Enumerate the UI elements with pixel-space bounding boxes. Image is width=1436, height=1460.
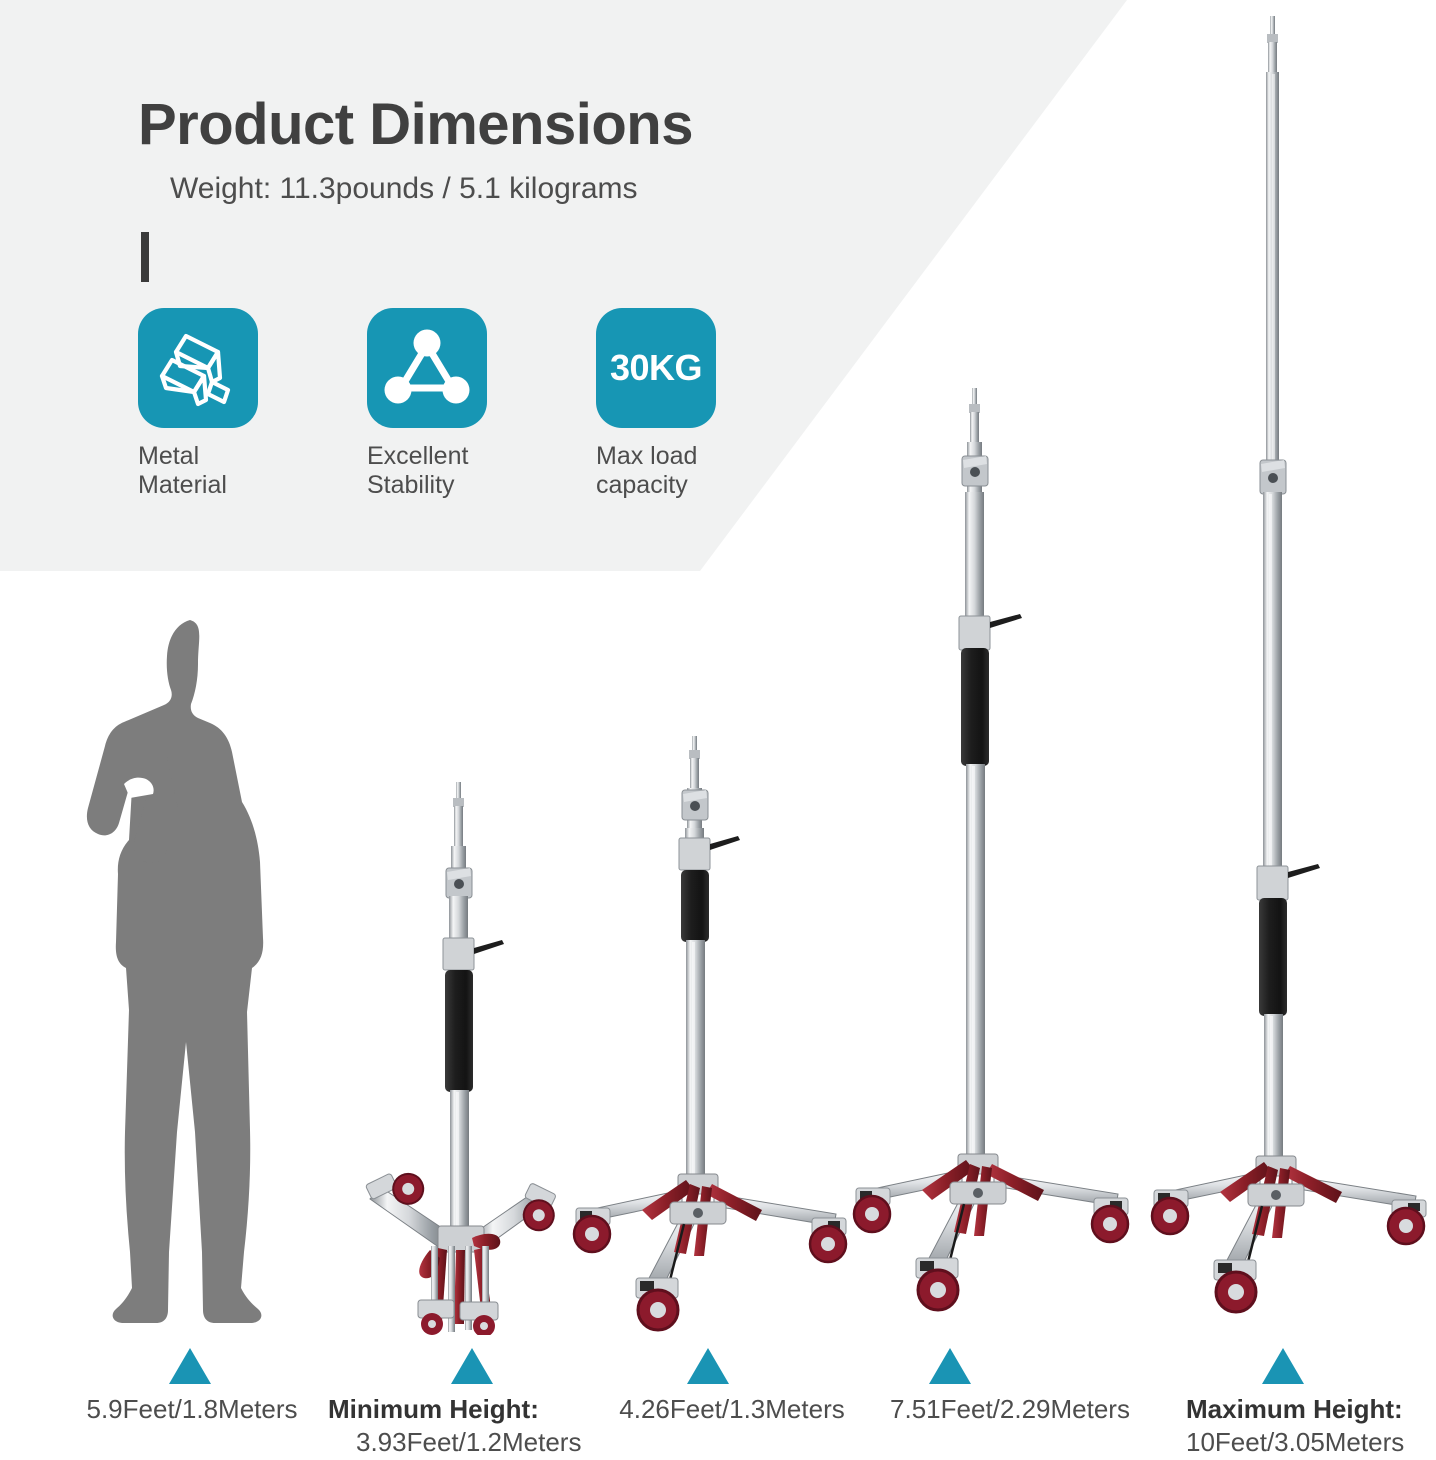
stand-max [1144, 10, 1436, 1336]
feature-label: Metal Material [138, 442, 258, 500]
caster [854, 1188, 890, 1232]
caption-text: 7.51Feet/2.29Meters [890, 1393, 1130, 1426]
caption-folded: Minimum Height: 3.93Feet/1.2Meters [328, 1393, 581, 1460]
metal-bars-icon [138, 308, 258, 428]
caster [1092, 1198, 1128, 1242]
human-silhouette [72, 612, 334, 1335]
max-load-icon: 30KG [596, 308, 716, 428]
caption-low: 4.26Feet/1.3Meters [619, 1393, 844, 1426]
caption-human: 5.9Feet/1.8Meters [87, 1393, 298, 1426]
caster [636, 1278, 678, 1330]
caster [810, 1218, 846, 1262]
feature-max-load: 30KG Max load capacity [596, 308, 716, 500]
caster [916, 1258, 958, 1310]
caster [1152, 1190, 1188, 1234]
divider-tick [141, 232, 149, 282]
caster [1214, 1260, 1256, 1312]
marker-human [169, 1348, 211, 1384]
marker-max [1262, 1348, 1304, 1384]
max-load-value: 30KG [610, 350, 702, 386]
weight-subtitle: Weight: 11.3pounds / 5.1 kilograms [170, 172, 638, 206]
triangle-nodes-icon [367, 308, 487, 428]
caption-text: 5.9Feet/1.8Meters [87, 1393, 298, 1426]
caption-text: 4.26Feet/1.3Meters [619, 1393, 844, 1426]
marker-low [687, 1348, 729, 1384]
caption-text: 10Feet/3.05Meters [1186, 1426, 1404, 1459]
feature-excellent-stability: Excellent Stability [367, 308, 487, 500]
page-title: Product Dimensions [138, 96, 693, 154]
caption-max: Maximum Height: 10Feet/3.05Meters [1186, 1393, 1404, 1460]
feature-label: Max load capacity [596, 442, 716, 500]
marker-folded [451, 1348, 493, 1384]
caption-mid: 7.51Feet/2.29Meters [890, 1393, 1130, 1426]
feature-metal-material: Metal Material [138, 308, 258, 500]
stand-folded [352, 780, 572, 1335]
stand-mid [846, 382, 1138, 1336]
caster [574, 1208, 610, 1252]
infographic-canvas: Product Dimensions Weight: 11.3pounds / … [0, 0, 1436, 1441]
stand-low [566, 732, 856, 1336]
scale-comparison-scene [0, 0, 1436, 1441]
caster [1388, 1200, 1426, 1244]
marker-mid [929, 1348, 971, 1384]
feature-label: Excellent Stability [367, 442, 487, 500]
caption-heading: Minimum Height: [328, 1393, 581, 1426]
caption-heading: Maximum Height: [1186, 1393, 1404, 1426]
feature-list: Metal Material Excellent Stability [138, 308, 716, 500]
caption-text: 3.93Feet/1.2Meters [356, 1426, 581, 1459]
